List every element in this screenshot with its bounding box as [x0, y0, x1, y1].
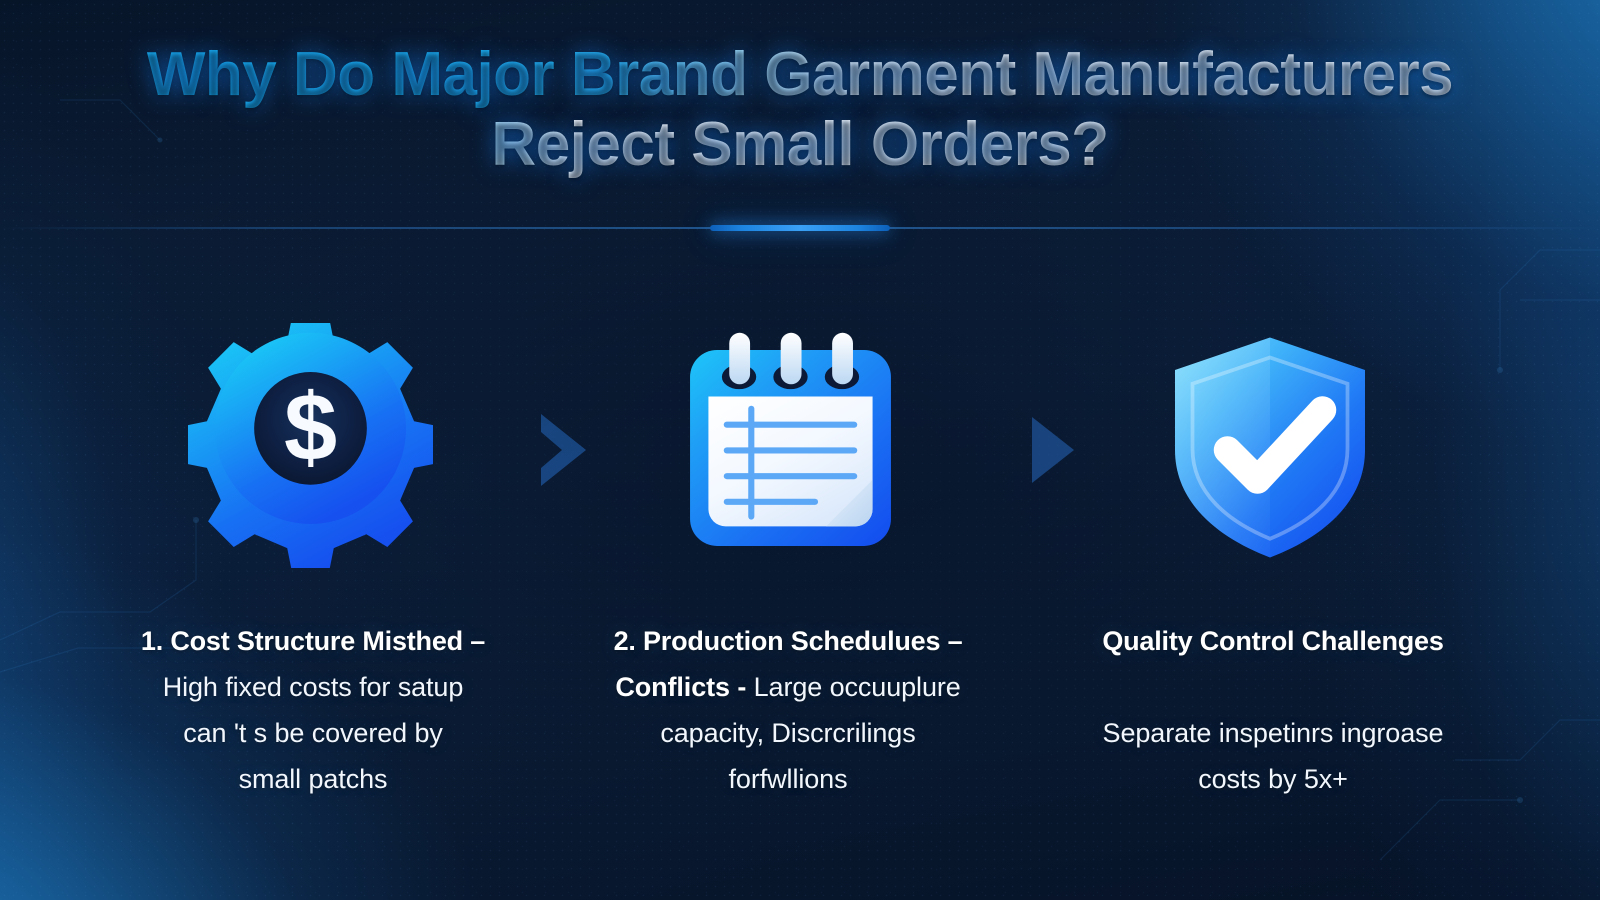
icon-slot-cost: $: [165, 300, 455, 590]
column-quality-control: Quality Control Challenges Separate insp…: [1038, 618, 1508, 802]
column-lead-label: Conflicts -: [615, 672, 746, 702]
column-body-line: High fixed costs for satup: [78, 664, 548, 710]
chevron-right-arrow-1: [510, 395, 620, 505]
shield-check-icon: [1145, 320, 1395, 570]
column-body-line: forfwllions: [553, 756, 1023, 802]
icon-slot-quality: [1125, 300, 1415, 590]
column-production-schedules: 2. Production Schedulues – Conflicts - L…: [553, 618, 1023, 802]
column-heading: 1. Cost Structure Misthed –: [78, 618, 548, 664]
column-body-line: Separate inspetinrs ingroase: [1038, 710, 1508, 756]
title-divider: [0, 222, 1600, 234]
columns-row: 1. Cost Structure Misthed – High fixed c…: [0, 618, 1600, 858]
icon-row: $: [0, 300, 1600, 590]
column-body-line: Conflicts - Large occuuplure: [553, 664, 1023, 710]
title-block: Why Do Major Brand Garment Manufacturers…: [0, 40, 1600, 180]
calendar-notepad-icon: [668, 323, 913, 568]
page-title-line-2: Reject Small Orders?: [0, 110, 1600, 180]
column-body-line: costs by 5x+: [1038, 756, 1508, 802]
divider-accent-bar: [710, 225, 890, 231]
page-title-line-1: Why Do Major Brand Garment Manufacturers: [0, 40, 1600, 110]
column-cost-structure: 1. Cost Structure Misthed – High fixed c…: [78, 618, 548, 802]
chevron-right-icon: [520, 405, 610, 495]
column-spacer: [1038, 664, 1508, 710]
column-body-line: can 't s be covered by: [78, 710, 548, 756]
chevron-right-icon: [1005, 405, 1095, 495]
column-body-line: capacity, Discrcrilings: [553, 710, 1023, 756]
column-body-line: small patchs: [78, 756, 548, 802]
column-body-text: Large occuuplure: [754, 672, 961, 702]
svg-text:$: $: [283, 375, 336, 481]
column-heading: 2. Production Schedulues –: [553, 618, 1023, 664]
column-heading: Quality Control Challenges: [1038, 618, 1508, 664]
infographic-canvas: Why Do Major Brand Garment Manufacturers…: [0, 0, 1600, 900]
icon-slot-schedule: [645, 300, 935, 590]
chevron-right-arrow-2: [995, 395, 1105, 505]
gear-dollar-icon: $: [188, 323, 433, 568]
